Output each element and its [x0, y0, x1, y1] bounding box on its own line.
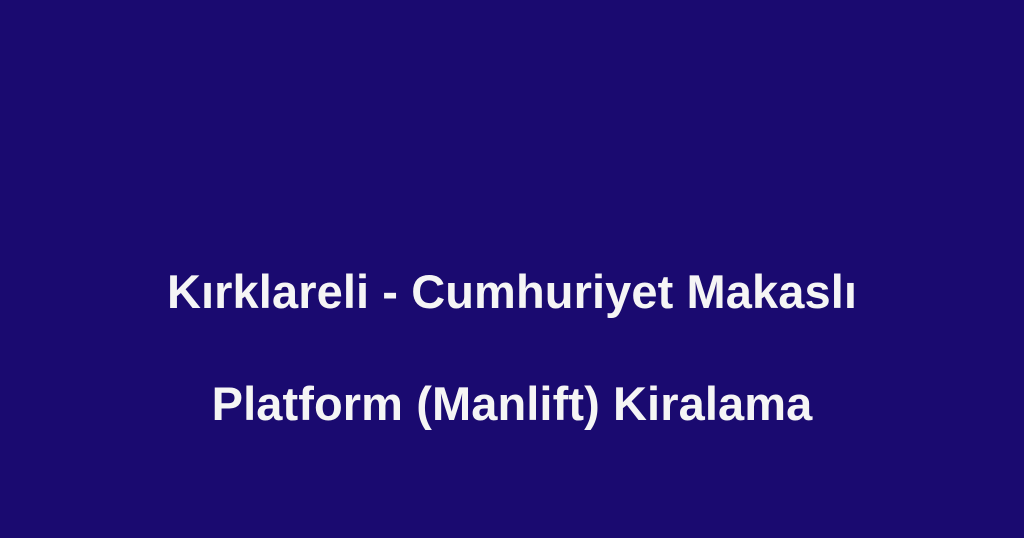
page-title: Kırklareli - Cumhuriyet Makaslı Platform… [0, 208, 1024, 488]
hero-banner-card: Kırklareli - Cumhuriyet Makaslı Platform… [0, 0, 1024, 538]
page-title-line-2: Platform (Manlift) Kiralama [70, 376, 954, 432]
page-title-line-1: Kırklareli - Cumhuriyet Makaslı [70, 264, 954, 320]
